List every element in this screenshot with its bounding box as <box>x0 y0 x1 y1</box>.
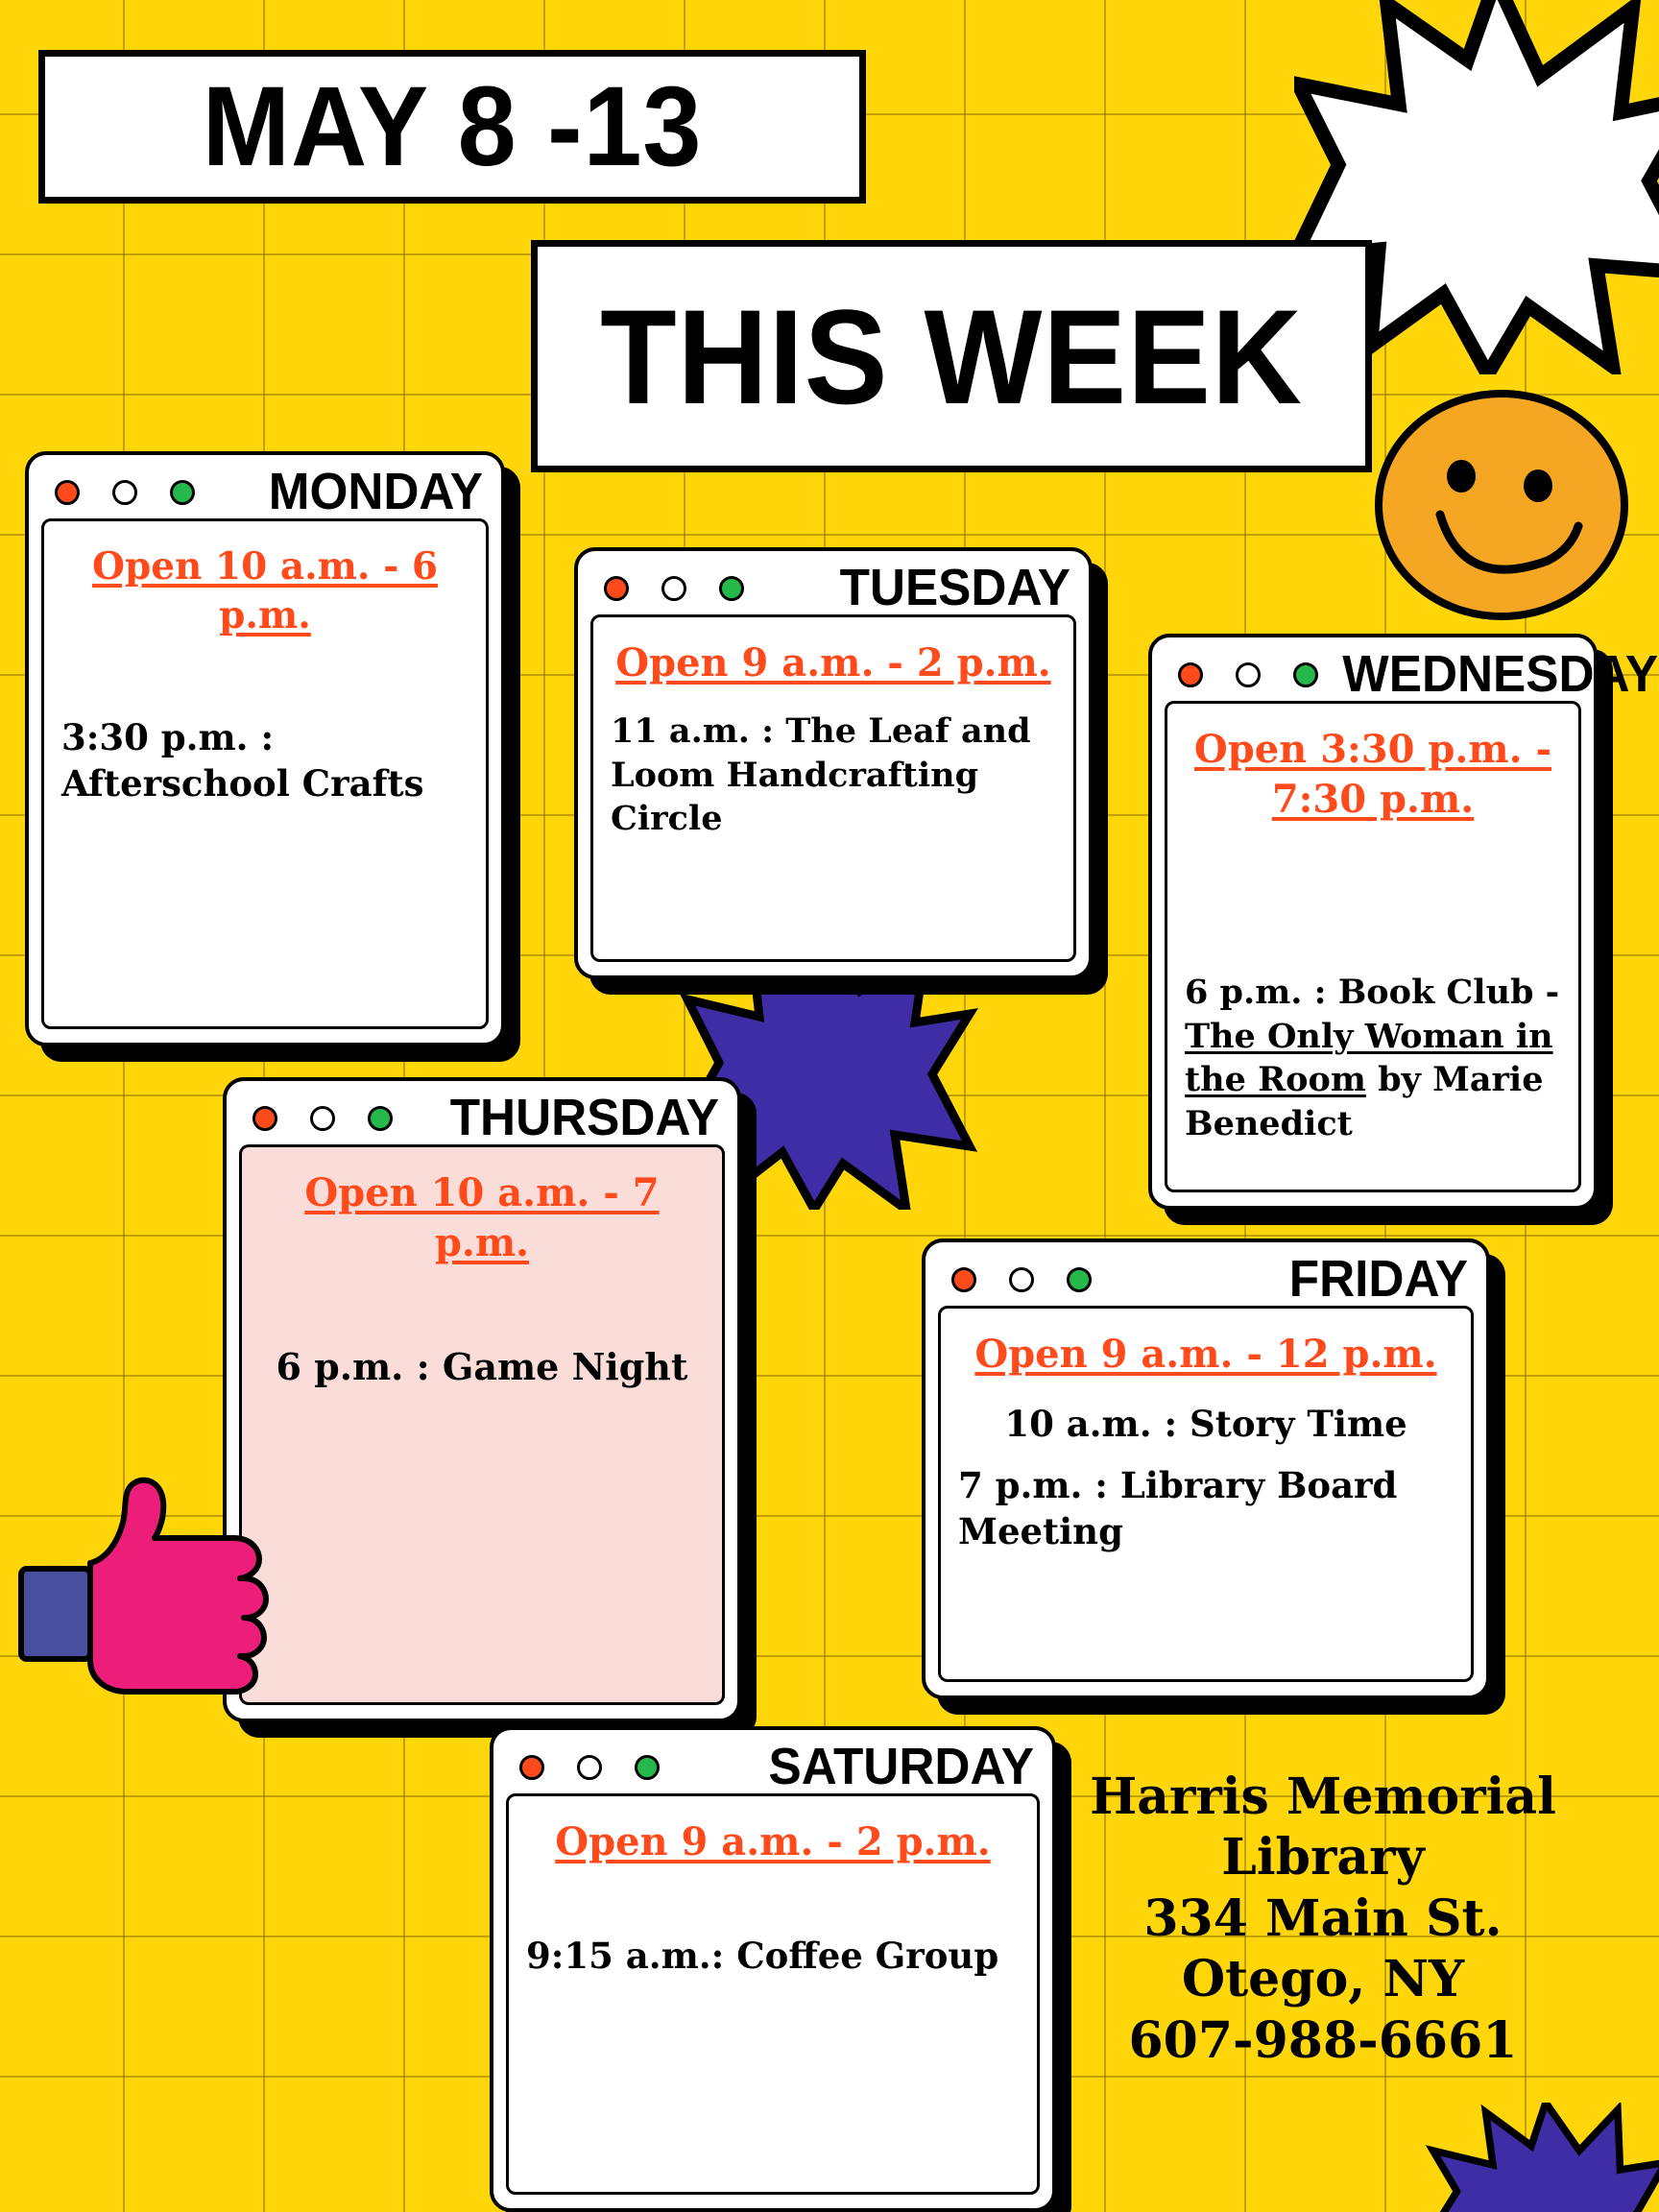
day-card-thursday: THURSDAY Open 10 a.m. - 7 p.m. 6 p.m. : … <box>223 1077 741 1722</box>
library-name-line1: Harris Memorial <box>1083 1767 1563 1827</box>
day-body-tuesday: Open 9 a.m. - 2 p.m. 11 a.m. : The Leaf … <box>590 614 1076 962</box>
minimize-dot-icon[interactable] <box>310 1106 335 1131</box>
day-title-tuesday: TUESDAY <box>760 565 1070 613</box>
library-street: 334 Main St. <box>1083 1888 1563 1949</box>
day-body-wednesday: Open 3:30 p.m. - 7:30 p.m. 6 p.m. : Book… <box>1165 701 1581 1192</box>
library-name-line2: Library <box>1083 1827 1563 1887</box>
close-dot-icon[interactable] <box>252 1106 277 1131</box>
event-friday-1: 10 a.m. : Story Time <box>958 1401 1454 1447</box>
day-title-thursday: THURSDAY <box>409 1094 719 1142</box>
day-body-thursday: Open 10 a.m. - 7 p.m. 6 p.m. : Game Nigh… <box>239 1144 725 1705</box>
window-title-bar: WEDNESDAY <box>1165 649 1581 701</box>
weekly-schedule-poster: MAY 8 -13 THIS WEEK MONDAY Open 10 a.m. … <box>0 0 1659 2212</box>
close-dot-icon[interactable] <box>55 480 80 505</box>
window-title-bar: THURSDAY <box>239 1093 725 1144</box>
hours-saturday: Open 9 a.m. - 2 p.m. <box>526 1817 1020 1867</box>
day-body-saturday: Open 9 a.m. - 2 p.m. 9:15 a.m.: Coffee G… <box>506 1793 1040 2195</box>
purple-starburst-corner-decoration <box>1421 2103 1659 2212</box>
day-card-tuesday: TUESDAY Open 9 a.m. - 2 p.m. 11 a.m. : T… <box>574 547 1093 979</box>
close-dot-icon[interactable] <box>1178 662 1203 687</box>
event-saturday-1: 9:15 a.m.: Coffee Group <box>526 1933 1020 1979</box>
maximize-dot-icon[interactable] <box>719 576 744 601</box>
library-city-state: Otego, NY <box>1083 1949 1563 2009</box>
poster-dates-banner: MAY 8 -13 <box>38 50 866 204</box>
poster-subtitle-banner: THIS WEEK <box>531 240 1372 472</box>
poster-dates-text: MAY 8 -13 <box>74 73 831 180</box>
minimize-dot-icon[interactable] <box>112 480 137 505</box>
smiley-face-icon <box>1371 384 1632 624</box>
day-card-friday: FRIDAY Open 9 a.m. - 12 p.m. 10 a.m. : S… <box>922 1238 1490 1699</box>
window-title-bar: SATURDAY <box>506 1742 1040 1793</box>
window-title-bar: FRIDAY <box>938 1254 1474 1306</box>
day-title-wednesday: WEDNESDAY <box>1335 651 1658 699</box>
day-body-friday: Open 9 a.m. - 12 p.m. 10 a.m. : Story Ti… <box>938 1306 1474 1682</box>
close-dot-icon[interactable] <box>519 1755 544 1780</box>
day-card-saturday: SATURDAY Open 9 a.m. - 2 p.m. 9:15 a.m.:… <box>490 1726 1056 2212</box>
event-thursday-1: 6 p.m. : Game Night <box>259 1343 705 1390</box>
window-title-bar: MONDAY <box>41 467 489 518</box>
minimize-dot-icon[interactable] <box>661 576 686 601</box>
event-tuesday-1: 11 a.m. : The Leaf and Loom Handcrafting… <box>611 709 1056 841</box>
minimize-dot-icon[interactable] <box>1009 1267 1034 1292</box>
day-title-monday: MONDAY <box>209 469 483 517</box>
hours-wednesday: Open 3:30 p.m. - 7:30 p.m. <box>1185 725 1561 825</box>
hours-tuesday: Open 9 a.m. - 2 p.m. <box>611 638 1056 688</box>
event-wednesday-1: 6 p.m. : Book Club - The Only Woman in t… <box>1185 971 1561 1145</box>
maximize-dot-icon[interactable] <box>635 1755 660 1780</box>
maximize-dot-icon[interactable] <box>1067 1267 1092 1292</box>
maximize-dot-icon[interactable] <box>368 1106 393 1131</box>
close-dot-icon[interactable] <box>951 1267 976 1292</box>
day-title-saturday: SATURDAY <box>679 1743 1035 1791</box>
window-title-bar: TUESDAY <box>590 563 1076 614</box>
thumbs-up-icon <box>17 1467 281 1697</box>
hours-thursday: Open 10 a.m. - 7 p.m. <box>259 1168 705 1268</box>
hours-friday: Open 9 a.m. - 12 p.m. <box>958 1330 1454 1380</box>
library-phone: 607-988-6661 <box>1083 2010 1563 2071</box>
day-title-friday: FRIDAY <box>1111 1256 1468 1304</box>
maximize-dot-icon[interactable] <box>1293 662 1318 687</box>
minimize-dot-icon[interactable] <box>577 1755 602 1780</box>
day-card-wednesday: WEDNESDAY Open 3:30 p.m. - 7:30 p.m. 6 p… <box>1148 634 1598 1210</box>
event-friday-2: 7 p.m. : Library Board Meeting <box>958 1462 1454 1554</box>
close-dot-icon[interactable] <box>604 576 629 601</box>
poster-subtitle-text: THIS WEEK <box>566 293 1336 421</box>
day-body-monday: Open 10 a.m. - 6 p.m. 3:30 p.m. : Afters… <box>41 518 489 1029</box>
library-address-block: Harris Memorial Library 334 Main St. Ote… <box>1083 1767 1563 2071</box>
day-card-monday: MONDAY Open 10 a.m. - 6 p.m. 3:30 p.m. :… <box>25 451 505 1046</box>
maximize-dot-icon[interactable] <box>170 480 195 505</box>
event-monday-1: 3:30 p.m. : Afterschool Crafts <box>61 714 469 806</box>
minimize-dot-icon[interactable] <box>1236 662 1261 687</box>
hours-monday: Open 10 a.m. - 6 p.m. <box>61 542 469 639</box>
